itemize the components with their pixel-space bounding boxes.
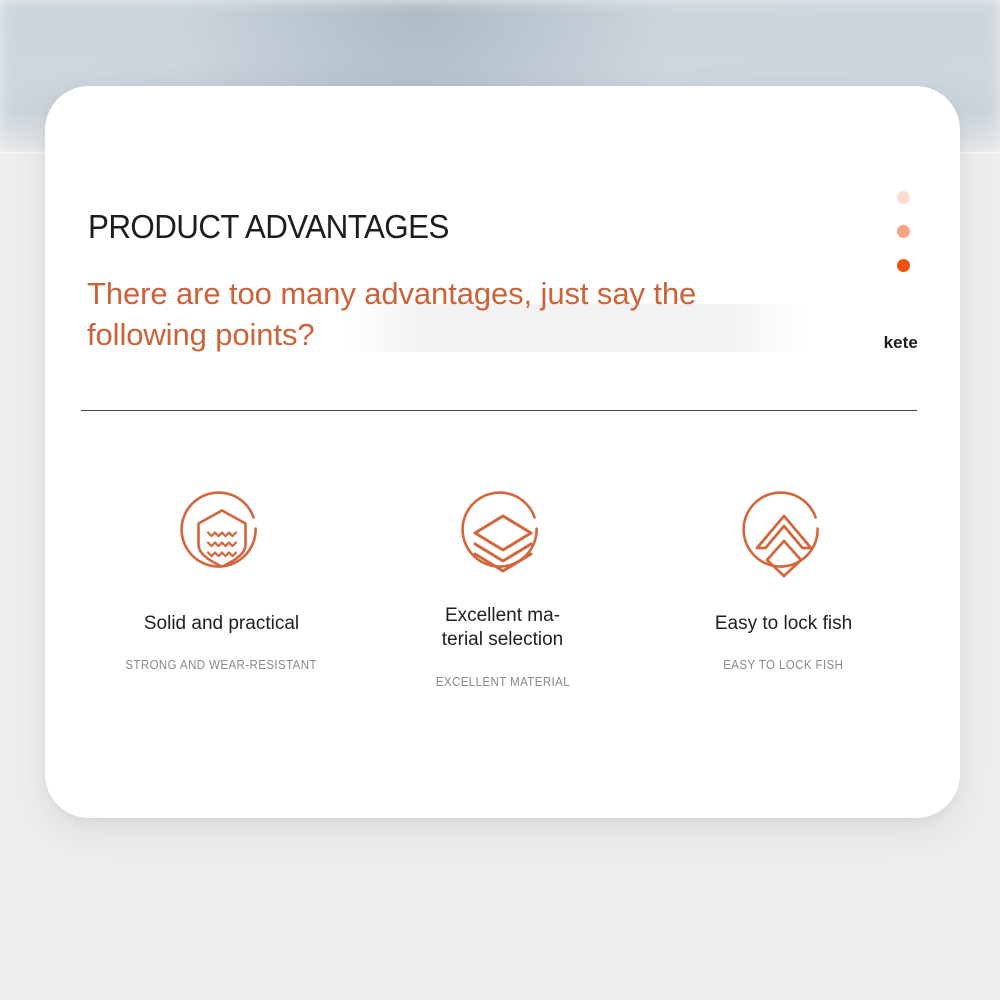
feature-subtitle: EXCELLENT MATERIAL bbox=[435, 675, 569, 689]
shield-waves-icon bbox=[170, 486, 274, 590]
page-root: PRODUCT ADVANTAGES There are too many ad… bbox=[0, 0, 1000, 1000]
feature-item-solid-and-practical: Solid and practical STRONG AND WEAR-RESI… bbox=[81, 486, 362, 689]
chevron-diamond-icon bbox=[732, 486, 836, 590]
feature-title: Solid and practical bbox=[144, 612, 299, 636]
pagination-dot-2[interactable] bbox=[897, 225, 910, 238]
feature-subtitle: EASY TO LOCK FISH bbox=[723, 658, 843, 672]
header-divider bbox=[81, 410, 917, 411]
pagination-dot-1[interactable] bbox=[897, 191, 910, 204]
pagination-dot-3[interactable] bbox=[897, 259, 910, 272]
feature-title: Excellent ma- terial selection bbox=[442, 604, 563, 653]
feature-item-excellent-material-selection: Excellent ma- terial selection EXCELLENT… bbox=[362, 486, 643, 689]
page-title: There are too many advantages, just say … bbox=[87, 274, 787, 356]
feature-list: Solid and practical STRONG AND WEAR-RESI… bbox=[81, 486, 924, 689]
feature-subtitle: STRONG AND WEAR-RESISTANT bbox=[126, 658, 318, 672]
product-advantages-card: PRODUCT ADVANTAGES There are too many ad… bbox=[45, 86, 960, 818]
pagination-dots[interactable] bbox=[897, 191, 910, 272]
layers-stack-icon bbox=[451, 486, 555, 590]
feature-item-easy-to-lock-fish: Easy to lock fish EASY TO LOCK FISH bbox=[643, 486, 924, 689]
page-eyebrow: PRODUCT ADVANTAGES bbox=[88, 208, 449, 246]
feature-title: Easy to lock fish bbox=[715, 612, 852, 636]
brand-logo-text: kete bbox=[884, 333, 918, 353]
